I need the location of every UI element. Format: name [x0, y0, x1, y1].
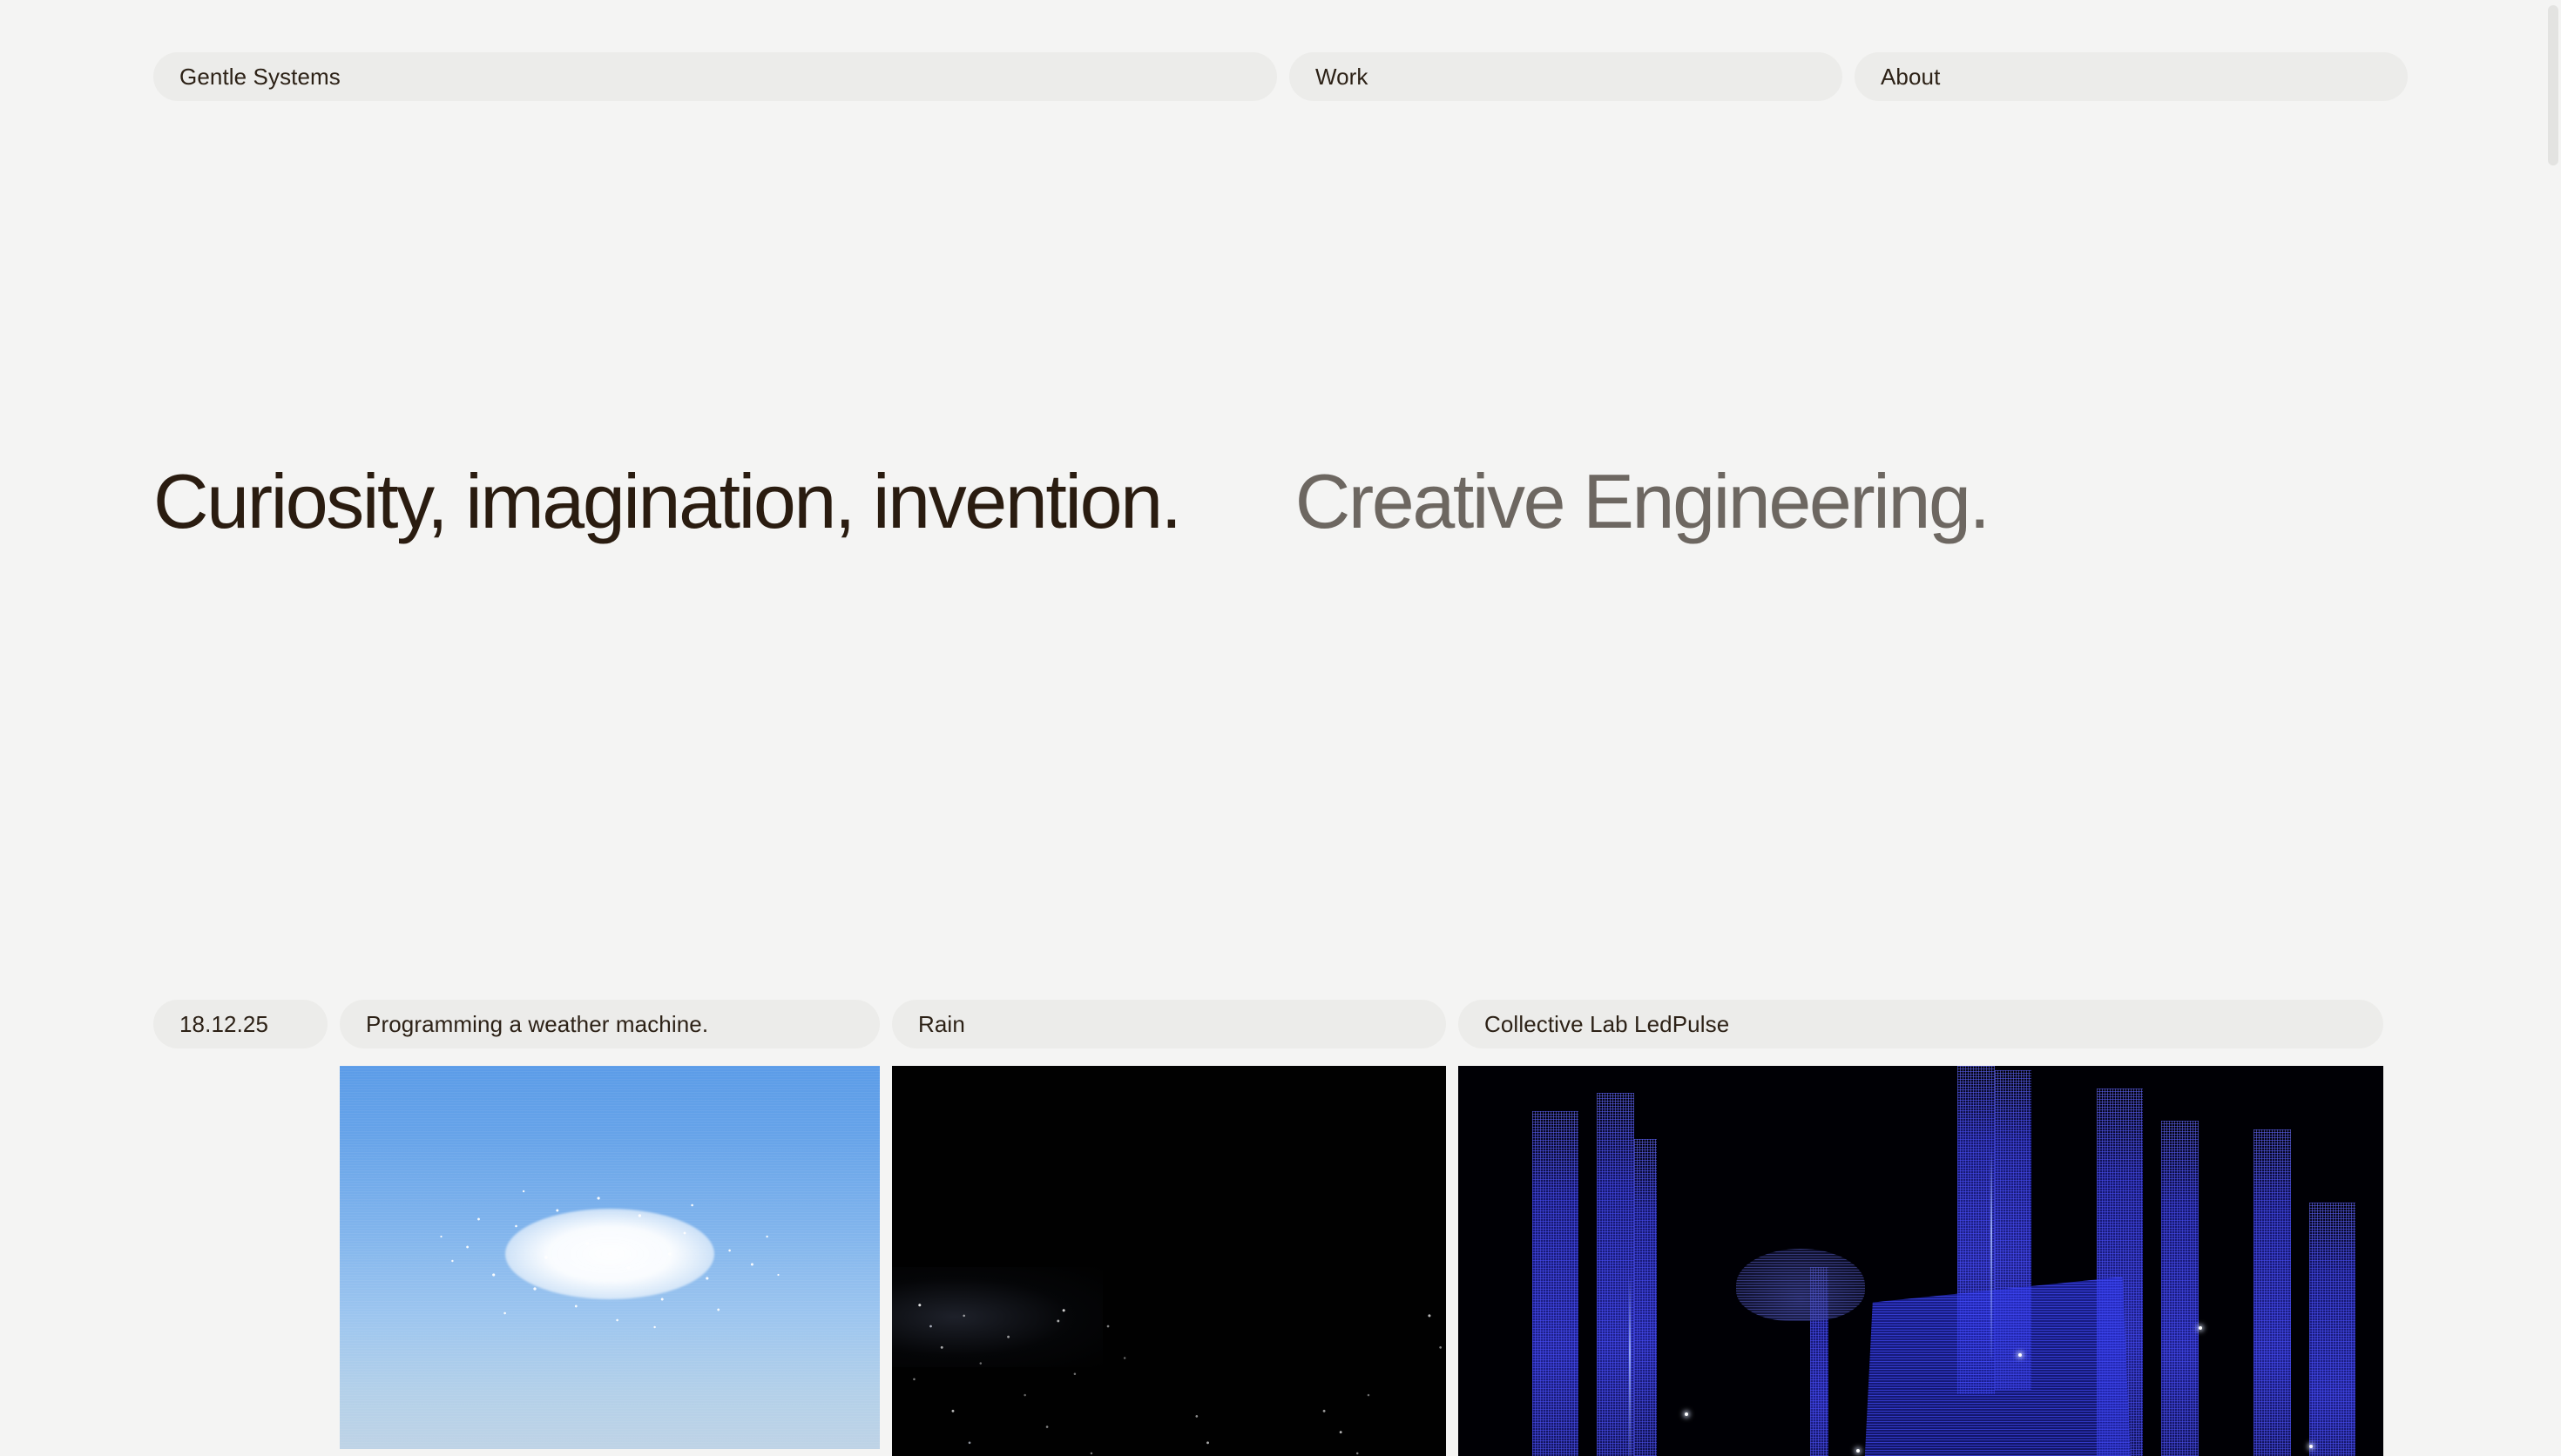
cloud-particles — [422, 1167, 797, 1341]
led-spark — [2309, 1445, 2313, 1448]
hero-secondary-line: Creative Engineering. — [1295, 460, 1989, 543]
nav-brand-label: Gentle Systems — [179, 64, 341, 91]
feed-title-pill[interactable]: Programming a weather machine. — [340, 1000, 880, 1048]
feed-card-row — [153, 1066, 2408, 1456]
led-dome-structure — [1736, 1249, 1866, 1322]
rain-light-specks — [892, 1257, 1446, 1456]
feed-project-label: Collective Lab LedPulse — [1484, 1011, 1729, 1038]
hero-heading: Curiosity, imagination, invention. Creat… — [153, 460, 1989, 543]
feed-tag-pill[interactable]: Rain — [892, 1000, 1446, 1048]
particle-cloud-graphic — [422, 1167, 797, 1341]
led-spark — [1856, 1449, 1860, 1453]
led-column — [1634, 1139, 1658, 1456]
scrollbar-thumb[interactable] — [2548, 5, 2558, 165]
feed-title-label: Programming a weather machine. — [366, 1011, 708, 1038]
nav-brand-gentle-systems[interactable]: Gentle Systems — [153, 52, 1277, 101]
nav-item-work-label: Work — [1315, 64, 1368, 91]
led-spark — [2199, 1326, 2202, 1330]
feed-section: 18.12.25 Programming a weather machine. … — [153, 1000, 2408, 1456]
feed-card-collective-lab-ledpulse[interactable] — [1458, 1066, 2383, 1456]
led-spark — [2018, 1353, 2022, 1357]
nav-item-about-label: About — [1881, 64, 1940, 91]
led-spark — [1685, 1412, 1688, 1416]
nav-item-work[interactable]: Work — [1289, 52, 1842, 101]
nav-item-about[interactable]: About — [1855, 52, 2408, 101]
led-beam — [1629, 1276, 1631, 1456]
feed-label-row: 18.12.25 Programming a weather machine. … — [153, 1000, 2408, 1048]
feed-card-rain-night[interactable] — [892, 1066, 1446, 1456]
led-column — [2309, 1203, 2355, 1456]
feed-card-weather-machine-sky[interactable] — [340, 1066, 880, 1449]
led-column — [2161, 1121, 2198, 1456]
feed-date-pill[interactable]: 18.12.25 — [153, 1000, 328, 1048]
led-central-structure — [1856, 1267, 2134, 1456]
hero-primary-line: Curiosity, imagination, invention. — [153, 460, 1180, 543]
led-beam — [1990, 1148, 1992, 1358]
top-navigation: Gentle Systems Work About — [153, 52, 2408, 101]
feed-project-pill[interactable]: Collective Lab LedPulse — [1458, 1000, 2383, 1048]
vertical-scrollbar[interactable] — [2545, 0, 2561, 1456]
led-column — [2254, 1129, 2290, 1456]
led-column — [1532, 1111, 1578, 1456]
feed-date-label: 18.12.25 — [179, 1011, 268, 1038]
led-column — [1597, 1093, 1633, 1456]
feed-tag-label: Rain — [918, 1011, 965, 1038]
led-point-cloud-graphic — [1458, 1066, 2383, 1456]
